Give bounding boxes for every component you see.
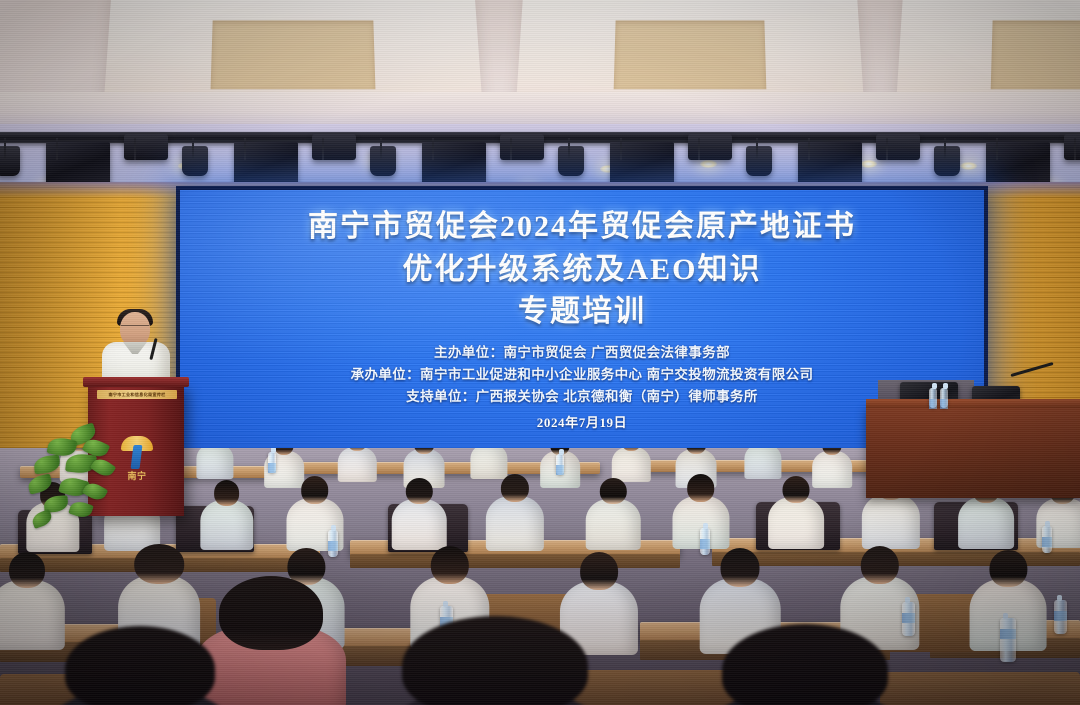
- stage-light-par-icon: [934, 146, 960, 176]
- stage-light-par-icon: [370, 146, 396, 176]
- truss-wire: [568, 138, 570, 160]
- slide-title-block: 南宁市贸促会2024年贸促会原产地证书 优化升级系统及AEO知识 专题培训: [180, 206, 984, 334]
- attendee-head: [722, 624, 888, 705]
- slide-date: 2024年7月19日: [180, 412, 984, 431]
- attendee-torso: [744, 448, 781, 479]
- nanning-logo: 南宁: [118, 436, 156, 484]
- slide-subtitle-block: 主办单位：南宁市贸促会 广西贸促会法律事务部 承办单位：南宁市工业促进和中小企业…: [180, 342, 984, 431]
- attendee-head: [9, 552, 45, 588]
- truss-wire: [996, 138, 998, 160]
- audience-member: [338, 448, 376, 487]
- audience-member-front-center: [380, 616, 610, 705]
- stage-light-box-icon: [312, 134, 356, 160]
- attendee-torso: [958, 497, 1014, 549]
- downlight-icon: [700, 160, 717, 168]
- audience-member: [392, 478, 447, 555]
- truss-wire: [322, 138, 324, 160]
- truss-wire: [1074, 138, 1076, 160]
- coffer-inner-panel: [991, 20, 1080, 89]
- attendee-torso: [338, 448, 376, 482]
- attendee-head: [580, 552, 618, 590]
- bottle-label: [556, 465, 564, 475]
- audience-member: [200, 480, 253, 556]
- truss-wire: [4, 138, 6, 160]
- truss-wire: [192, 138, 194, 160]
- slide-organizer-line: 主办单位：南宁市贸促会 广西贸促会法律事务部: [180, 342, 984, 364]
- podium-nameplate: 南宁市工业和信息化局宣传栏: [97, 390, 177, 399]
- slide-title-line-1: 南宁市贸促会2024年贸促会原产地证书: [180, 206, 984, 249]
- truss-wire: [56, 138, 58, 160]
- audience-member-front-left: [42, 626, 238, 705]
- ceiling-coffer-3: [896, 0, 1080, 98]
- bottle-label: [940, 399, 948, 409]
- slide-host-line: 承办单位：南宁市工业促进和中小企业服务中心 南宁交投物流投资有限公司: [180, 364, 984, 386]
- attendee-torso: [200, 500, 253, 550]
- attendee-torso: [392, 499, 447, 550]
- logo-stem-shape: [131, 445, 143, 469]
- attendee-head: [214, 480, 240, 506]
- plant-leaf: [30, 509, 54, 529]
- truss-wire: [886, 138, 888, 160]
- av-table-top: [866, 399, 1080, 408]
- attendee-head: [600, 478, 626, 504]
- attendee-torso: [862, 494, 920, 549]
- attendee-torso: [586, 499, 641, 550]
- audience-member-front-right: [700, 624, 910, 705]
- truss-wire: [808, 138, 810, 160]
- attendee-head: [301, 476, 329, 504]
- truss-wire: [510, 138, 512, 160]
- truss-wire: [134, 138, 136, 160]
- water-bottle: [929, 388, 937, 408]
- water-bottle: [1000, 618, 1016, 662]
- attendee-head: [406, 478, 432, 504]
- truss-wire: [244, 138, 246, 160]
- stage-light-box-icon: [1064, 134, 1080, 160]
- stage-light-par-icon: [182, 146, 208, 176]
- truss-wire: [944, 138, 946, 160]
- stage-light-par-icon: [746, 146, 772, 176]
- bottle-label: [902, 613, 915, 623]
- truss-wire: [432, 138, 434, 160]
- truss-wire: [620, 138, 622, 160]
- attendee-head: [782, 476, 809, 503]
- bottle-label: [1054, 611, 1067, 621]
- stage-light-box-icon: [876, 134, 920, 160]
- attendee-head: [721, 548, 760, 587]
- led-screen-surface: 南宁市贸促会2024年贸促会原产地证书 优化升级系统及AEO知识 专题培训 主办…: [180, 190, 984, 460]
- av-control-table: [866, 406, 1080, 498]
- attendee-head: [687, 474, 715, 502]
- plant-leaf: [33, 455, 61, 475]
- water-bottle: [1054, 600, 1067, 634]
- stage-light-par-icon: [558, 146, 584, 176]
- audience-member: [586, 478, 641, 555]
- water-bottle: [1042, 526, 1052, 553]
- audience-member: [486, 474, 544, 557]
- downlight-icon: [960, 162, 977, 170]
- attendee-head: [65, 626, 215, 705]
- potted-plant: [26, 424, 122, 534]
- downlight-icon: [860, 160, 877, 168]
- attendee-chair: [880, 672, 1080, 705]
- slide-title-line-2: 优化升级系统及AEO知识: [180, 249, 984, 292]
- conference-hall-photo: 南宁市贸促会2024年贸促会原产地证书 优化升级系统及AEO知识 专题培训 主办…: [0, 0, 1080, 705]
- water-bottle: [556, 454, 564, 475]
- truss-wire: [698, 138, 700, 160]
- stage-light-par-icon: [0, 146, 20, 176]
- audience-member: [196, 448, 233, 483]
- truss-wire: [380, 138, 382, 160]
- ceiling-coffer-1: [104, 0, 482, 98]
- attendee-head: [134, 544, 184, 584]
- slide-support-line: 支持单位：广西报关协会 北京德和衡（南宁）律师事务所: [180, 386, 984, 408]
- audience-member: [768, 476, 824, 555]
- attendee-head: [402, 616, 588, 705]
- plant-leaf: [68, 499, 94, 520]
- attendee-torso: [486, 496, 544, 551]
- bottle-label: [1000, 629, 1016, 639]
- stage-light-box-icon: [124, 134, 168, 160]
- water-bottle: [940, 388, 948, 408]
- coffer-inner-panel: [614, 20, 766, 89]
- stage-light-box-icon: [688, 134, 732, 160]
- attendee-head: [430, 546, 468, 584]
- bottle-label: [929, 399, 937, 409]
- attendee-head: [501, 474, 529, 502]
- bottle-label: [268, 463, 276, 473]
- attendee-head: [990, 550, 1027, 587]
- bottle-label: [1042, 537, 1052, 547]
- logo-text: 南宁: [118, 469, 156, 482]
- truss-wire: [756, 138, 758, 160]
- attendee-torso: [196, 448, 233, 479]
- stage-light-box-icon: [500, 134, 544, 160]
- attendee-head: [860, 546, 898, 584]
- podium-nameplate-text: 南宁市工业和信息化局宣传栏: [97, 390, 177, 399]
- plant-leaf: [26, 473, 53, 494]
- ceiling-soffit: [0, 92, 1080, 128]
- glasses-icon: [121, 325, 149, 331]
- podium-top: [83, 377, 189, 387]
- water-bottle: [268, 452, 276, 473]
- slide-title-line-3: 专题培训: [180, 291, 984, 334]
- coffer-inner-panel: [210, 20, 376, 89]
- attendee-torso: [768, 497, 824, 549]
- ceiling-coffer-2: [516, 0, 863, 98]
